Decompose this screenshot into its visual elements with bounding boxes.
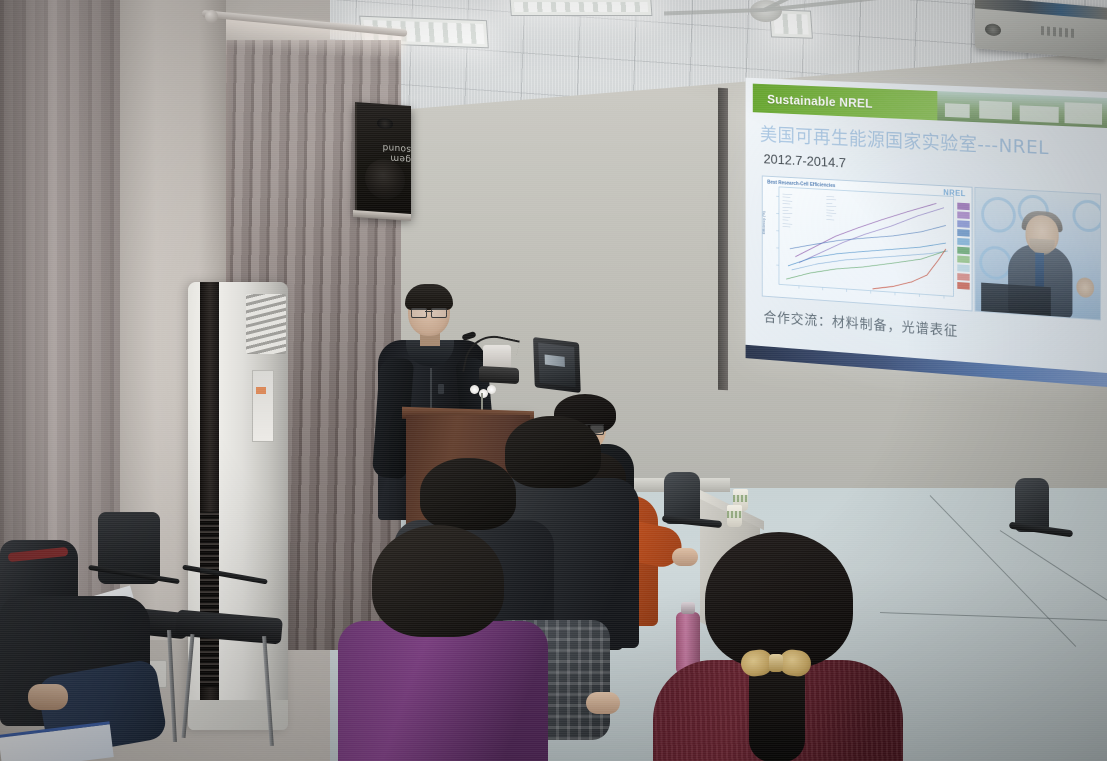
photo-person-tie <box>1035 253 1044 287</box>
audience-member <box>705 532 865 761</box>
presenter-hair <box>405 284 453 310</box>
lecture-room-photo: Sustainable NREL 美国可再生能源国家实验室---NREL 201… <box>0 0 1107 761</box>
audience-hand <box>28 684 68 710</box>
ac-air-vent <box>246 294 286 354</box>
backpack-strap <box>8 547 69 562</box>
screen-frame-edge <box>718 88 728 391</box>
ceiling-fan <box>750 0 782 22</box>
speaker-woofer <box>365 158 405 201</box>
audience-hair <box>420 458 516 530</box>
ceiling-light-panel <box>510 0 653 16</box>
office-chair[interactable] <box>1005 478 1085 558</box>
chart-plot-area <box>763 176 972 310</box>
presenter-badge <box>438 384 444 394</box>
presenter-laptop[interactable] <box>533 337 581 399</box>
projector-logo <box>1041 26 1075 38</box>
ac-status-led <box>256 387 266 394</box>
slide-banner-label: Sustainable NREL <box>753 91 873 111</box>
slide-speaker-photo <box>974 187 1101 321</box>
projector-lens <box>985 23 1001 36</box>
audience-torso <box>338 621 548 761</box>
bottle-cap <box>681 602 695 614</box>
ac-control-panel[interactable] <box>252 370 274 442</box>
photo-podium <box>981 283 1051 317</box>
speaker-tweeter <box>377 118 393 130</box>
audience-hair <box>372 525 504 637</box>
hair-bow-accessory <box>741 650 811 676</box>
projection-screen: Sustainable NREL 美国可再生能源国家实验室---NREL 201… <box>746 78 1107 387</box>
audience-hand <box>586 692 620 714</box>
wall-mounted-loudspeaker: gem sound <box>355 102 411 218</box>
audience-member <box>372 525 552 761</box>
presenter-glasses <box>411 308 447 316</box>
meeting-chair[interactable] <box>182 572 292 761</box>
microphone-base <box>479 366 519 384</box>
photo-person-hand <box>1076 277 1094 298</box>
curtain-rod-knob <box>205 10 218 23</box>
nrel-efficiency-chart: Best Research-Cell Efficiencies NREL Eff… <box>762 175 973 311</box>
audience-hand <box>672 548 698 566</box>
audience-hair <box>705 532 853 668</box>
chart-color-swatches <box>957 203 969 292</box>
